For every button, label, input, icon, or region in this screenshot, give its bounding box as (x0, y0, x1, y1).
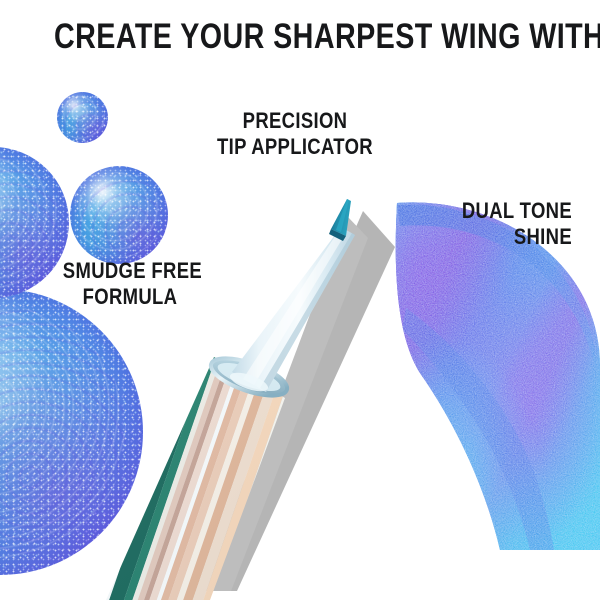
callout-dualtone-line2: SHINE (428, 224, 572, 250)
callout-precision-line2: TIP APPLICATOR (203, 134, 388, 160)
pen-shadow (196, 211, 395, 591)
callout-dualtone-line1: DUAL TONE (428, 198, 572, 224)
shimmer-sphere-left (0, 147, 69, 298)
shimmer-sphere-large (0, 289, 143, 575)
shimmer-sphere-small (57, 92, 108, 143)
page-title: CREATE YOUR SHARPEST WING WITH (54, 18, 546, 56)
poster-canvas: CREATE YOUR SHARPEST WING WITH PRECISION… (0, 0, 600, 600)
callout-precision-line1: PRECISION (203, 108, 388, 134)
pen-precision-tip (329, 199, 351, 241)
callout-dual-tone-shine: DUAL TONE SHINE (428, 198, 572, 250)
callout-smudge-line1: SMUDGE FREE (63, 258, 197, 284)
callout-smudge-free-formula: SMUDGE FREE FORMULA (63, 258, 197, 310)
callout-smudge-line2: FORMULA (63, 284, 197, 310)
callout-precision-tip-applicator: PRECISION TIP APPLICATOR (203, 108, 388, 160)
pen-cap-rim (207, 351, 292, 404)
pen-applicator-wand (228, 227, 355, 395)
shimmer-sphere-medium (70, 166, 168, 264)
